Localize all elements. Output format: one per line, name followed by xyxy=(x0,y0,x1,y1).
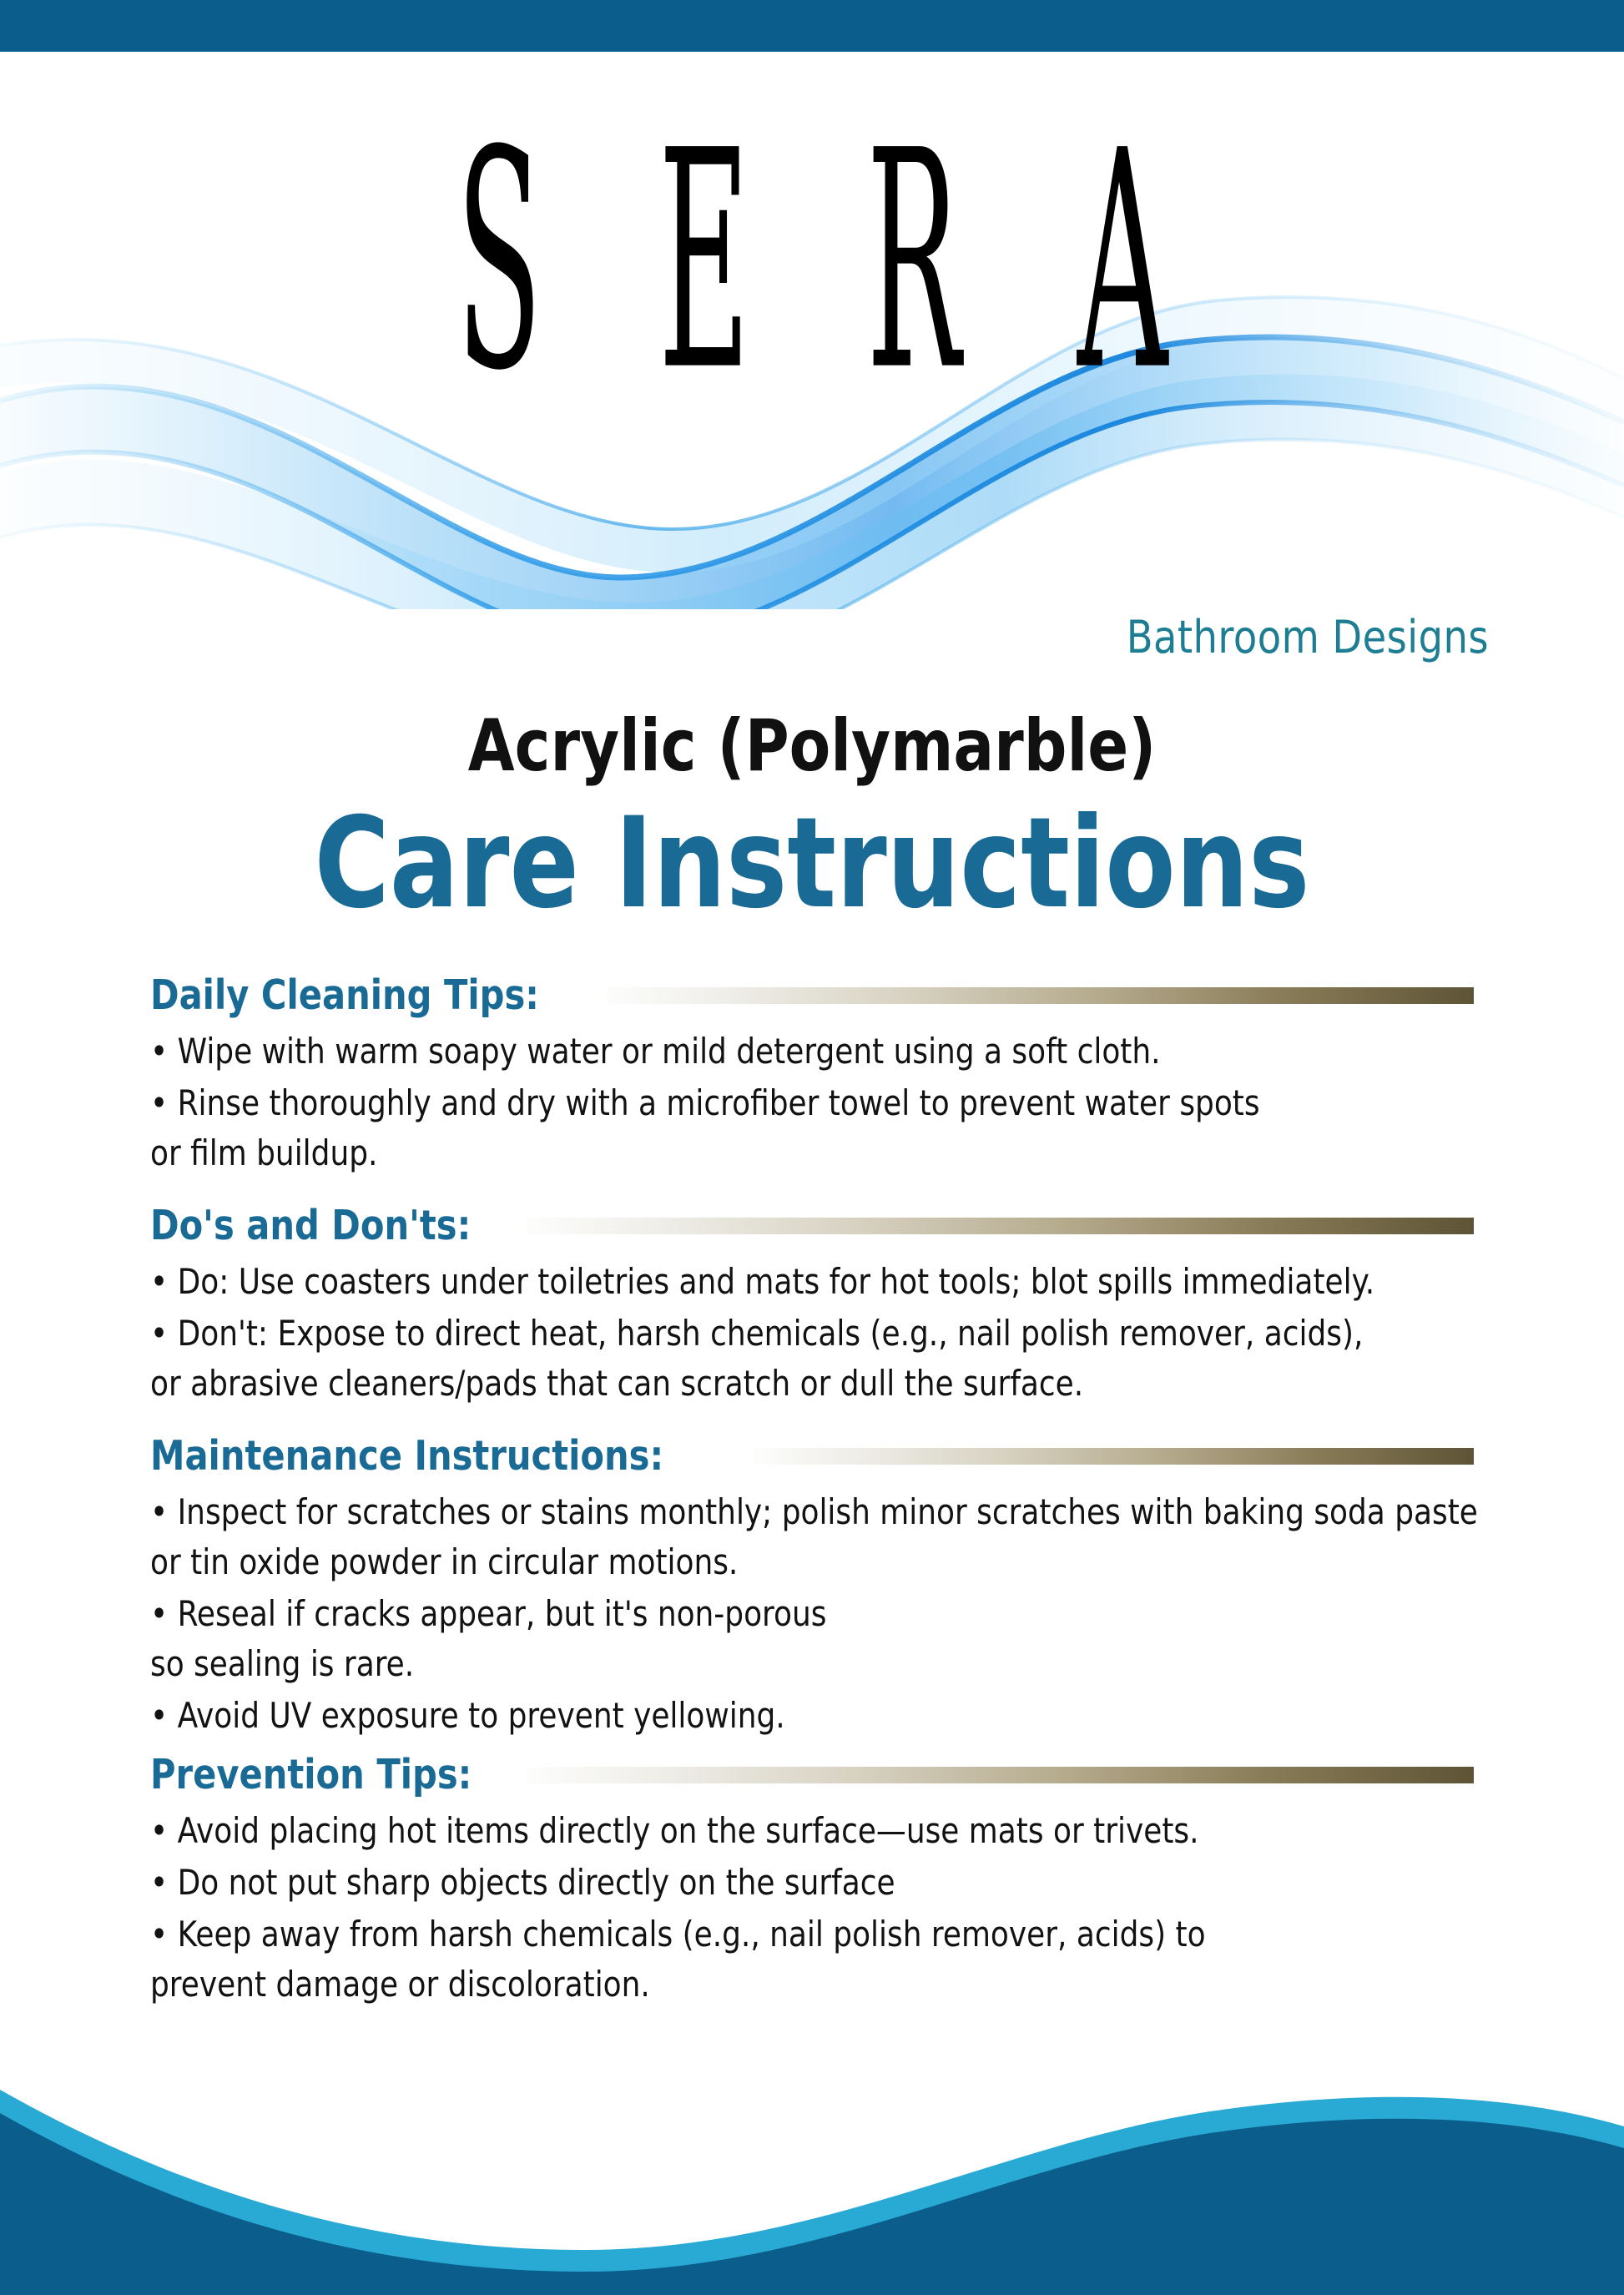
list-item: • Don't: Expose to direct heat, harsh ch… xyxy=(150,1309,1508,1409)
page-title: Care Instructions xyxy=(146,797,1478,931)
bullet-list: • Wipe with warm soapy water or mild det… xyxy=(150,1026,1519,1178)
list-item: • Rinse thoroughly and dry with a microf… xyxy=(150,1078,1508,1178)
brand-tagline: Bathroom Designs xyxy=(1127,613,1489,663)
list-item: • Inspect for scratches or stains monthl… xyxy=(150,1487,1508,1587)
list-item: • Avoid placing hot items directly on th… xyxy=(150,1806,1508,1856)
care-instructions-poster: S E R A xyxy=(0,0,1624,2295)
footer-wave-graphic xyxy=(0,2078,1624,2295)
list-item: • Do: Use coasters under toiletries and … xyxy=(150,1257,1508,1307)
section-prevention-tips: Prevention Tips: • Avoid placing hot ite… xyxy=(150,1749,1519,2010)
section-header: Prevention Tips: xyxy=(150,1749,1474,1801)
bullet-list: • Do: Use coasters under toiletries and … xyxy=(150,1257,1519,1409)
section-title: Daily Cleaning Tips: xyxy=(150,972,539,1019)
section-daily-cleaning-tips: Daily Cleaning Tips: • Wipe with warm so… xyxy=(150,970,1519,1178)
section-divider-bar xyxy=(753,1448,1474,1465)
list-item: • Avoid UV exposure to prevent yellowing… xyxy=(150,1691,1508,1741)
section-divider-bar xyxy=(606,987,1474,1004)
section-title: Do's and Don'ts: xyxy=(150,1203,471,1249)
instructions-content: Daily Cleaning Tips: • Wipe with warm so… xyxy=(150,970,1519,2011)
section-header: Do's and Don'ts: xyxy=(150,1200,1474,1252)
section-dos-and-donts: Do's and Don'ts: • Do: Use coasters unde… xyxy=(150,1200,1519,1409)
section-divider-bar xyxy=(526,1218,1474,1234)
list-item: • Do not put sharp objects directly on t… xyxy=(150,1858,1508,1908)
section-maintenance-instructions: Maintenance Instructions: • Inspect for … xyxy=(150,1430,1519,1741)
brand-header: S E R A xyxy=(0,52,1624,686)
list-item: • Keep away from harsh chemicals (e.g., … xyxy=(150,1909,1508,2010)
section-title: Maintenance Instructions: xyxy=(150,1433,663,1480)
section-title: Prevention Tips: xyxy=(150,1752,472,1798)
section-header: Maintenance Instructions: xyxy=(150,1430,1474,1482)
product-subtitle: Acrylic (Polymarble) xyxy=(130,708,1495,784)
top-banner-bar xyxy=(0,0,1624,52)
list-item: • Wipe with warm soapy water or mild det… xyxy=(150,1026,1508,1077)
bullet-list: • Inspect for scratches or stains monthl… xyxy=(150,1487,1519,1741)
list-item: • Reseal if cracks appear, but it's non-… xyxy=(150,1589,1508,1689)
bullet-list: • Avoid placing hot items directly on th… xyxy=(150,1806,1519,2010)
section-header: Daily Cleaning Tips: xyxy=(150,970,1474,1021)
sera-wordmark: S E R A xyxy=(406,112,1218,412)
section-divider-bar xyxy=(527,1767,1474,1783)
